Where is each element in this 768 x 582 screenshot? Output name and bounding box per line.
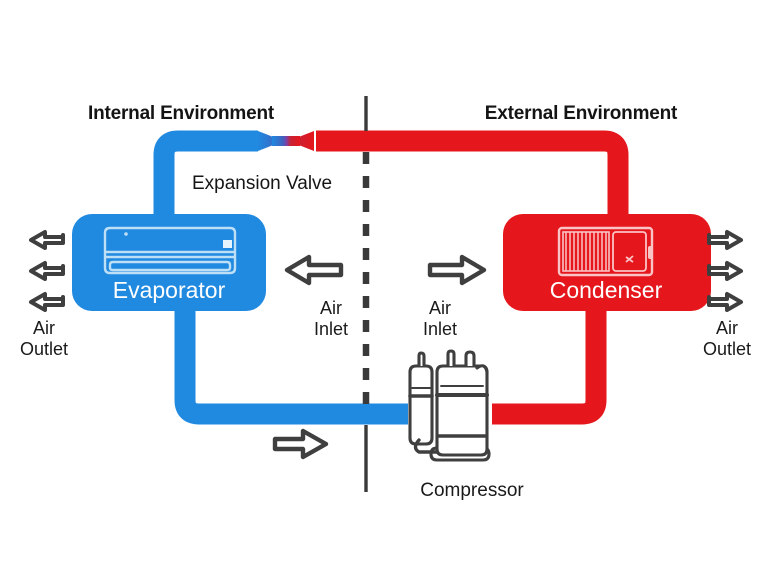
- condenser-unit[interactable]: Condenser: [503, 214, 711, 311]
- internal-environment-heading: Internal Environment: [88, 103, 275, 124]
- internal-air-inlet-label-line2: Inlet: [314, 319, 348, 339]
- condenser-label: Condenser: [550, 277, 663, 303]
- diagram-canvas: Evaporator: [0, 0, 768, 582]
- external-air-outlet-label-line2: Outlet: [703, 339, 751, 359]
- external-air-inlet-label-line1: Air: [429, 298, 451, 318]
- compressor-label: Compressor: [420, 480, 524, 501]
- evaporator-unit[interactable]: Evaporator: [72, 214, 266, 311]
- internal-air-outlet-label-line2: Outlet: [20, 339, 68, 359]
- expansion-valve-label: Expansion Valve: [192, 173, 332, 194]
- external-environment-heading: External Environment: [485, 103, 678, 124]
- external-air-inlet-label-line2: Inlet: [423, 319, 457, 339]
- evaporator-label: Evaporator: [113, 277, 226, 303]
- compressor-icon: [410, 351, 489, 460]
- external-air-outlet-label-line1: Air: [716, 318, 738, 338]
- internal-air-outlet-label-line1: Air: [33, 318, 55, 338]
- refrigeration-cycle-diagram: Evaporator: [0, 0, 768, 582]
- internal-air-inlet-label-line1: Air: [320, 298, 342, 318]
